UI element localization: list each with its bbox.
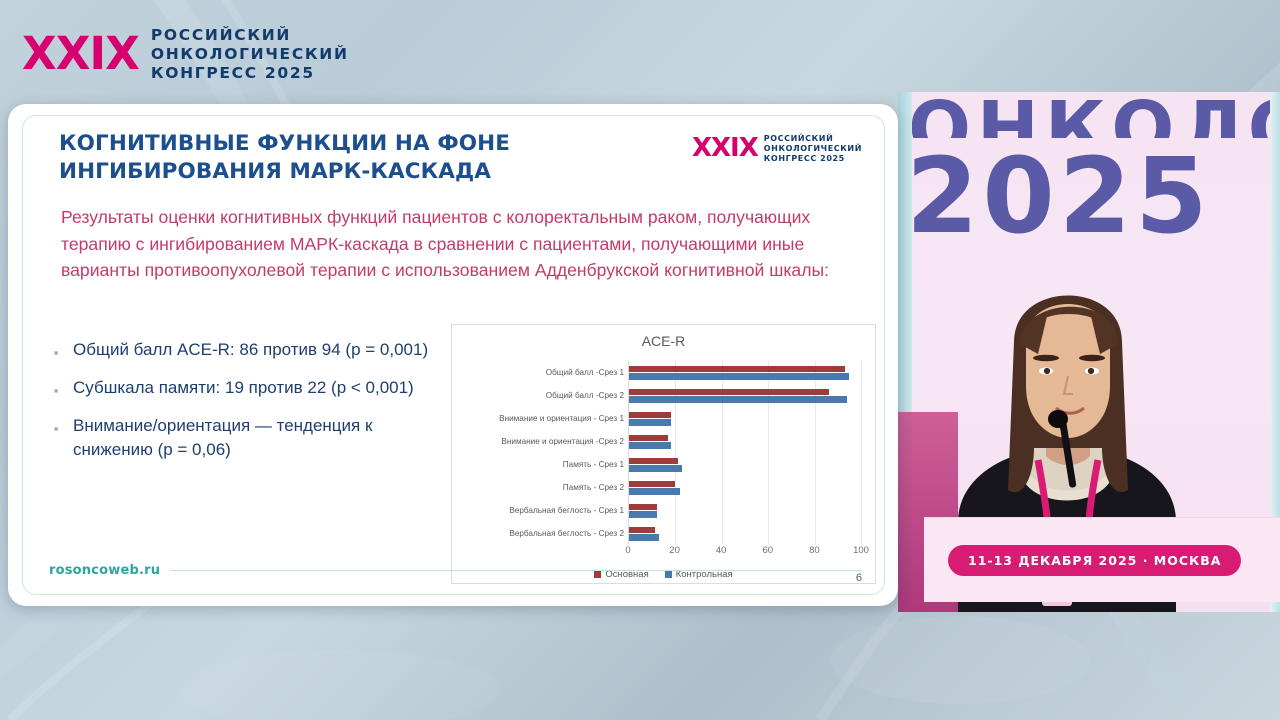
chart-bar-main (629, 481, 675, 488)
chart-bar-group (629, 387, 861, 404)
slide-logo-line2: ОНКОЛОГИЧЕСКИЙ (764, 144, 862, 154)
chart-category-label: Память - Срез 1 (456, 460, 628, 469)
chart-x-tick: 100 (853, 545, 869, 556)
slide-logo-line3: КОНГРЕСС 2025 (764, 154, 862, 164)
slide-bullet-list: ▪ Общий балл ACE-R: 86 против 94 (p = 0,… (49, 338, 449, 474)
chart-bars (629, 361, 861, 545)
chart-category-label: Вербальная беглость - Срез 2 (456, 529, 628, 538)
page-number: 6 (856, 572, 862, 584)
chart-plot-wrapper: Общий балл -Срез 1Общий балл -Срез 2Вним… (452, 357, 875, 583)
bullet-dot-icon: ▪ (49, 338, 63, 364)
bullet-text: Общий балл ACE-R: 86 против 94 (p = 0,00… (73, 338, 428, 362)
chart-x-tick: 60 (763, 545, 774, 556)
speaker-video-panel: ОНКОЛОГИЧЕСКИЙ 2025 (898, 92, 1280, 612)
chart-title: ACE-R (452, 333, 875, 349)
list-item: ▪ Внимание/ориентация — тенденция к сниж… (49, 414, 449, 462)
chart-bar-group (629, 479, 861, 496)
slide-footer: rosoncoweb.ru (49, 563, 862, 578)
chart-category-label: Общий балл -Срез 2 (456, 391, 628, 400)
chart-category-label: Память - Срез 2 (456, 483, 628, 492)
chart-bar-main (629, 389, 829, 396)
chart-bar-group (629, 410, 861, 427)
congress-logo: XXIX РОССИЙСКИЙ ОНКОЛОГИЧЕСКИЙ КОНГРЕСС … (22, 26, 349, 83)
chart-gridline (861, 361, 862, 545)
chart-bar-control (629, 419, 671, 426)
bullet-text: Субшкала памяти: 19 против 22 (p < 0,001… (73, 376, 414, 400)
chart-category-label: Внимание и ориентация -Срез 2 (456, 437, 628, 446)
congress-logo-roman: XXIX (22, 33, 139, 76)
chart-x-tick: 0 (625, 545, 630, 556)
chart-x-tick: 20 (669, 545, 680, 556)
chart-bar-control (629, 396, 847, 403)
slide-paragraph: Результаты оценки когнитивных функций па… (61, 204, 851, 284)
chart-bar-main (629, 366, 845, 373)
chart-plot-area (628, 361, 861, 545)
congress-logo-line1: РОССИЙСКИЙ (151, 26, 349, 45)
footer-website-url[interactable]: rosoncoweb.ru (49, 563, 160, 578)
slide-logo-words: РОССИЙСКИЙ ОНКОЛОГИЧЕСКИЙ КОНГРЕСС 2025 (764, 134, 862, 164)
congress-logo-line3: КОНГРЕСС 2025 (151, 64, 349, 83)
list-item: ▪ Субшкала памяти: 19 против 22 (p < 0,0… (49, 376, 449, 402)
bullet-dot-icon: ▪ (49, 376, 63, 402)
chart-bar-group (629, 364, 861, 381)
list-item: ▪ Общий балл ACE-R: 86 против 94 (p = 0,… (49, 338, 449, 364)
event-date-badge: 11-13 ДЕКАБРЯ 2025 · МОСКВА (948, 545, 1241, 576)
backdrop-word-text: ОНКОЛОГИЧЕСКИЙ (908, 92, 1280, 138)
chart-bar-control (629, 442, 671, 449)
chart-category-label: Вербальная беглость - Срез 1 (456, 506, 628, 515)
bullet-dot-icon: ▪ (49, 414, 63, 440)
chart-bar-main (629, 412, 671, 419)
screen: XXIX РОССИЙСКИЙ ОНКОЛОГИЧЕСКИЙ КОНГРЕСС … (0, 0, 1280, 720)
chart-bar-main (629, 527, 655, 534)
chart-bar-group (629, 502, 861, 519)
chart-bar-control (629, 465, 682, 472)
congress-logo-words: РОССИЙСКИЙ ОНКОЛОГИЧЕСКИЙ КОНГРЕСС 2025 (151, 26, 349, 83)
chart-category-labels: Общий балл -Срез 1Общий балл -Срез 2Вним… (456, 361, 628, 545)
chart-bar-main (629, 504, 657, 511)
ace-r-chart: ACE-R Общий балл -Срез 1Общий балл -Срез… (451, 324, 876, 584)
chart-category-label: Общий балл -Срез 1 (456, 368, 628, 377)
chart-bar-main (629, 435, 668, 442)
chart-bar-control (629, 373, 849, 380)
slide-logo-roman: XXIX (692, 137, 758, 160)
bullet-text: Внимание/ориентация — тенденция к снижен… (73, 414, 449, 462)
slide-card: КОГНИТИВНЫЕ ФУНКЦИИ НА ФОНЕ ИНГИБИРОВАНИ… (8, 104, 898, 606)
slide-logo-line1: РОССИЙСКИЙ (764, 134, 862, 144)
slide-congress-logo: XXIX РОССИЙСКИЙ ОНКОЛОГИЧЕСКИЙ КОНГРЕСС … (692, 134, 862, 164)
chart-bar-main (629, 458, 678, 465)
chart-bar-group (629, 433, 861, 450)
chart-bar-group (629, 456, 861, 473)
chart-bar-control (629, 511, 657, 518)
slide-title: КОГНИТИВНЫЕ ФУНКЦИИ НА ФОНЕ ИНГИБИРОВАНИ… (59, 130, 659, 187)
chart-category-label: Внимание и ориентация - Срез 1 (456, 414, 628, 423)
chart-x-axis: 020406080100 (628, 545, 861, 561)
congress-logo-line2: ОНКОЛОГИЧЕСКИЙ (151, 45, 349, 64)
chart-x-tick: 40 (716, 545, 727, 556)
chart-x-tick: 80 (809, 545, 820, 556)
chart-bar-group (629, 525, 861, 542)
footer-divider (170, 570, 862, 571)
slide-inner-frame: КОГНИТИВНЫЕ ФУНКЦИИ НА ФОНЕ ИНГИБИРОВАНИ… (22, 115, 885, 595)
chart-bar-control (629, 488, 680, 495)
chart-bar-control (629, 534, 659, 541)
